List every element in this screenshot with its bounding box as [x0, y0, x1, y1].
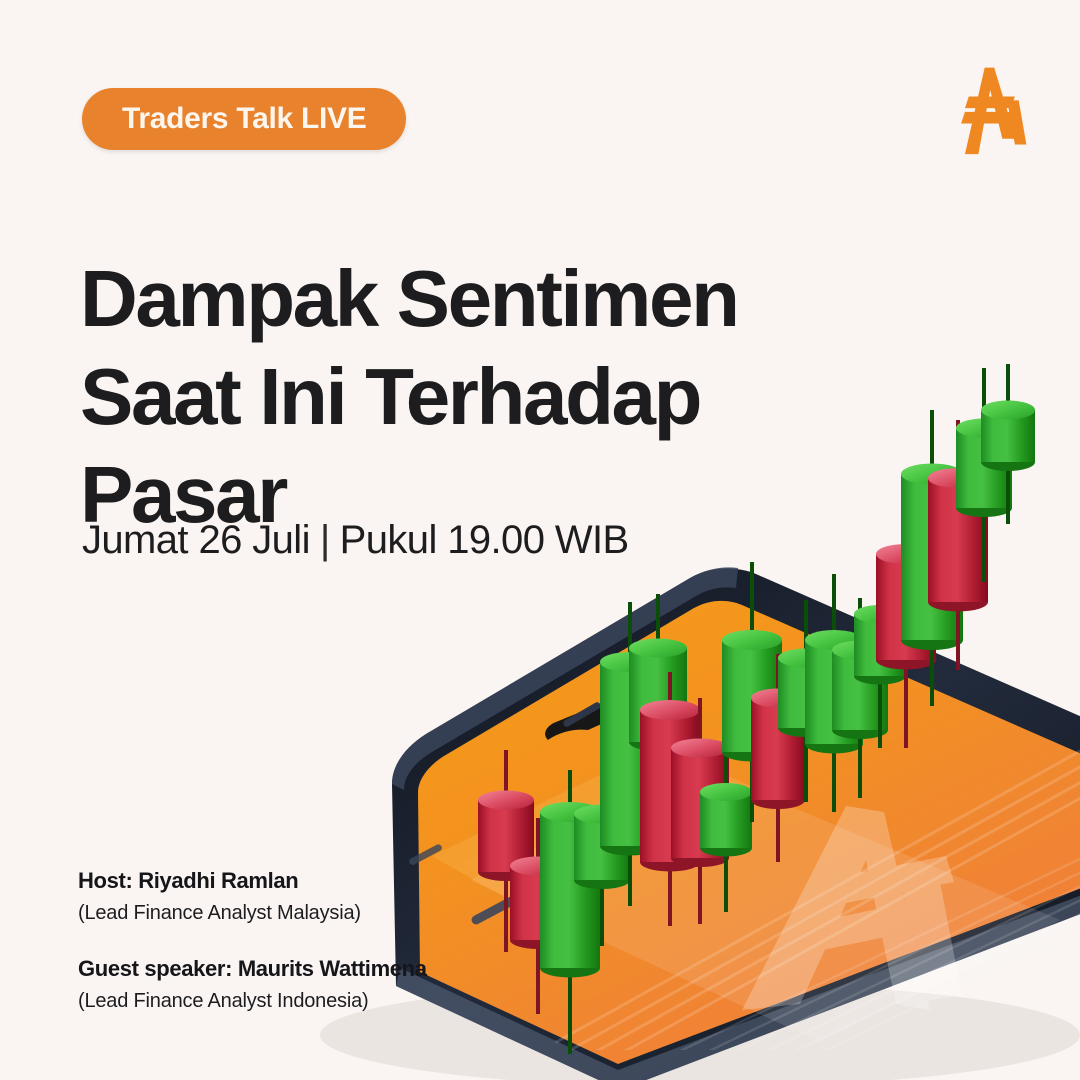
- live-badge-label: Traders Talk LIVE: [122, 102, 366, 136]
- schedule-time: Pukul 19.00 WIB: [340, 518, 629, 562]
- poster-canvas: Traders Talk LIVE Dampak Sentimen Saat I…: [0, 0, 1080, 1080]
- host-name: Host: Riyadhi Ramlan: [78, 866, 548, 896]
- guest-name: Guest speaker: Maurits Wattimena: [78, 954, 548, 984]
- guest-role: (Lead Finance Analyst Indonesia): [78, 986, 548, 1016]
- page-title: Dampak Sentimen Saat Ini Terhadap Pasar: [80, 250, 820, 544]
- host-role: (Lead Finance Analyst Malaysia): [78, 898, 548, 928]
- schedule-separator: |: [320, 518, 330, 563]
- schedule-date: Jumat 26 Juli: [82, 518, 310, 562]
- brand-a-logo-icon: [940, 62, 1036, 158]
- credit-guest: Guest speaker: Maurits Wattimena (Lead F…: [78, 954, 548, 1016]
- schedule-line: Jumat 26 Juli|Pukul 19.00 WIB: [82, 518, 629, 563]
- live-badge[interactable]: Traders Talk LIVE: [82, 88, 406, 150]
- credits-block: Host: Riyadhi Ramlan (Lead Finance Analy…: [78, 866, 548, 1016]
- credit-host: Host: Riyadhi Ramlan (Lead Finance Analy…: [78, 866, 548, 928]
